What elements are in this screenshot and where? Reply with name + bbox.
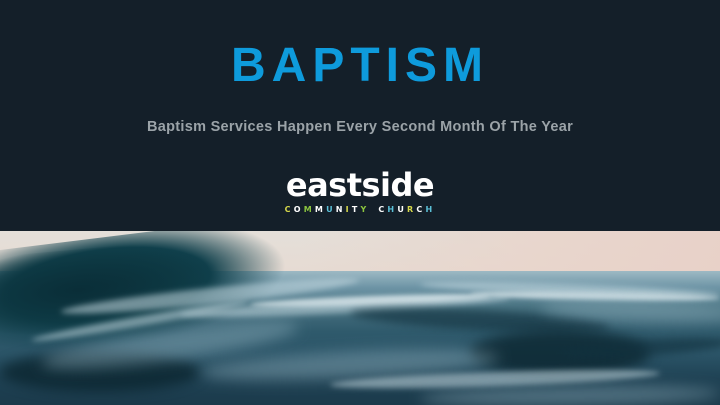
header-band: BAPTISM Baptism Services Happen Every Se… (0, 0, 720, 231)
tagline-letter: Y (361, 205, 370, 214)
tagline-letter: T (352, 205, 361, 214)
logo-tagline: COMMUNITY CHURCH (0, 205, 720, 215)
tagline-letter: N (336, 205, 346, 214)
eastside-logo: eastside COMMUNITY CHURCH (0, 168, 720, 215)
tagline-letter: R (407, 205, 416, 214)
page-title: BAPTISM (0, 40, 720, 92)
tagline-letter: U (326, 205, 336, 214)
baptism-promo-slide: BAPTISM Baptism Services Happen Every Se… (0, 0, 720, 405)
tagline-word-gap (370, 205, 379, 214)
subtitle-text: Baptism Services Happen Every Second Mon… (110, 115, 610, 140)
tagline-letter: H (387, 205, 397, 214)
tagline-letter: O (294, 205, 304, 214)
tagline-letter: C (285, 205, 294, 214)
tagline-letter: M (315, 205, 326, 214)
tagline-letter: H (425, 205, 435, 214)
tagline-letter: U (397, 205, 407, 214)
logo-wordmark: eastside (0, 168, 720, 202)
tagline-letter: M (304, 205, 315, 214)
